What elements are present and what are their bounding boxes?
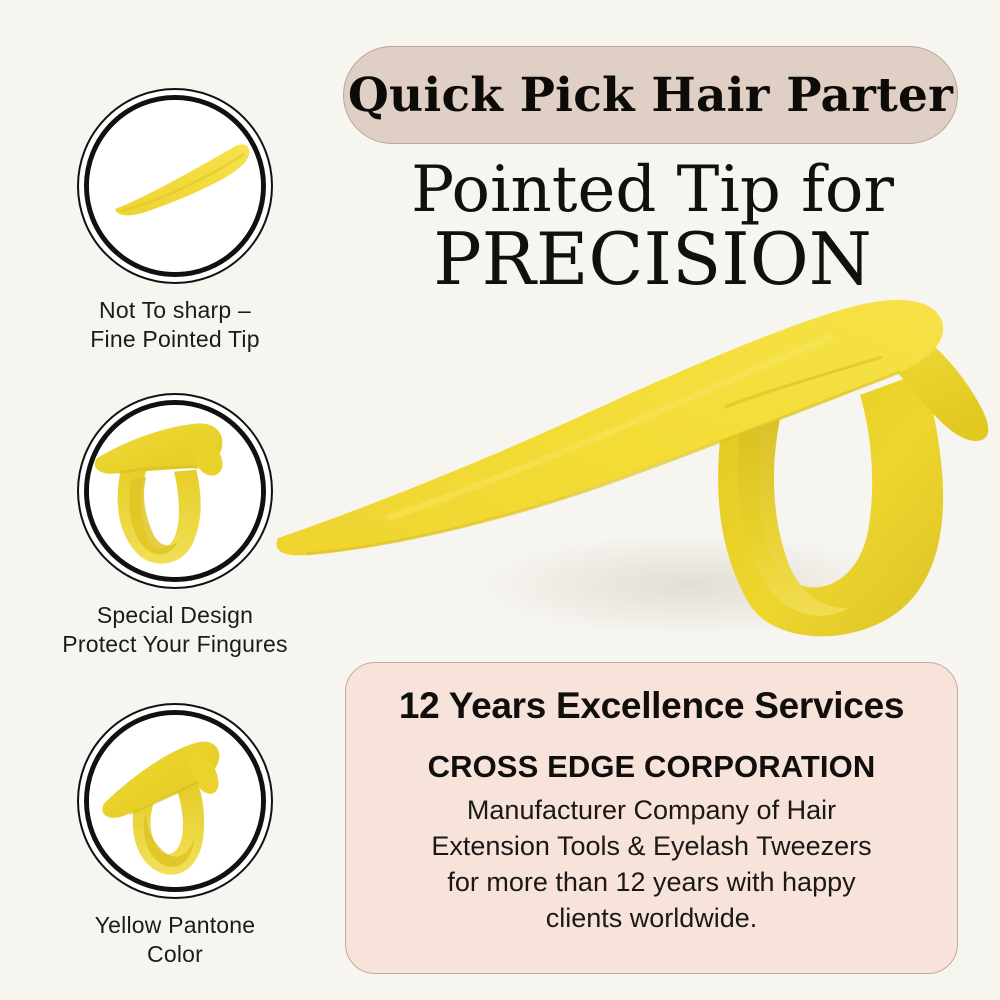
company-description: Manufacturer Company of Hair Extension T… bbox=[382, 793, 922, 937]
company-name: CROSS EDGE CORPORATION bbox=[428, 749, 876, 785]
feature-caption-line-2: Color bbox=[25, 940, 325, 969]
product-image bbox=[270, 255, 1000, 655]
feature-image-pointed-tip bbox=[84, 95, 266, 277]
company-description-line-2: Extension Tools & Eyelash Tweezers bbox=[382, 829, 922, 865]
feature-image-yellow-pantone bbox=[84, 710, 266, 892]
feature-circle-outer bbox=[77, 88, 273, 284]
feature-circle-outer bbox=[77, 393, 273, 589]
title-pill: Quick Pick Hair Parter bbox=[343, 46, 958, 144]
feature-caption-line-1: Yellow Pantone bbox=[25, 911, 325, 940]
headline-line-1: Pointed Tip for bbox=[340, 160, 965, 221]
company-description-line-4: clients worldwide. bbox=[382, 901, 922, 937]
feature-caption-yellow-pantone: Yellow Pantone Color bbox=[25, 911, 325, 970]
product-title: Quick Pick Hair Parter bbox=[348, 68, 953, 123]
product-infographic: Quick Pick Hair Parter Pointed Tip for P… bbox=[0, 0, 1000, 1000]
panel-headline: 12 Years Excellence Services bbox=[399, 685, 904, 727]
company-info-panel: 12 Years Excellence Services CROSS EDGE … bbox=[345, 662, 958, 974]
feature-yellow-pantone: Yellow Pantone Color bbox=[25, 703, 325, 970]
company-description-line-3: for more than 12 years with happy bbox=[382, 865, 922, 901]
company-description-line-1: Manufacturer Company of Hair bbox=[382, 793, 922, 829]
feature-image-special-design bbox=[84, 400, 266, 582]
feature-circle-outer bbox=[77, 703, 273, 899]
